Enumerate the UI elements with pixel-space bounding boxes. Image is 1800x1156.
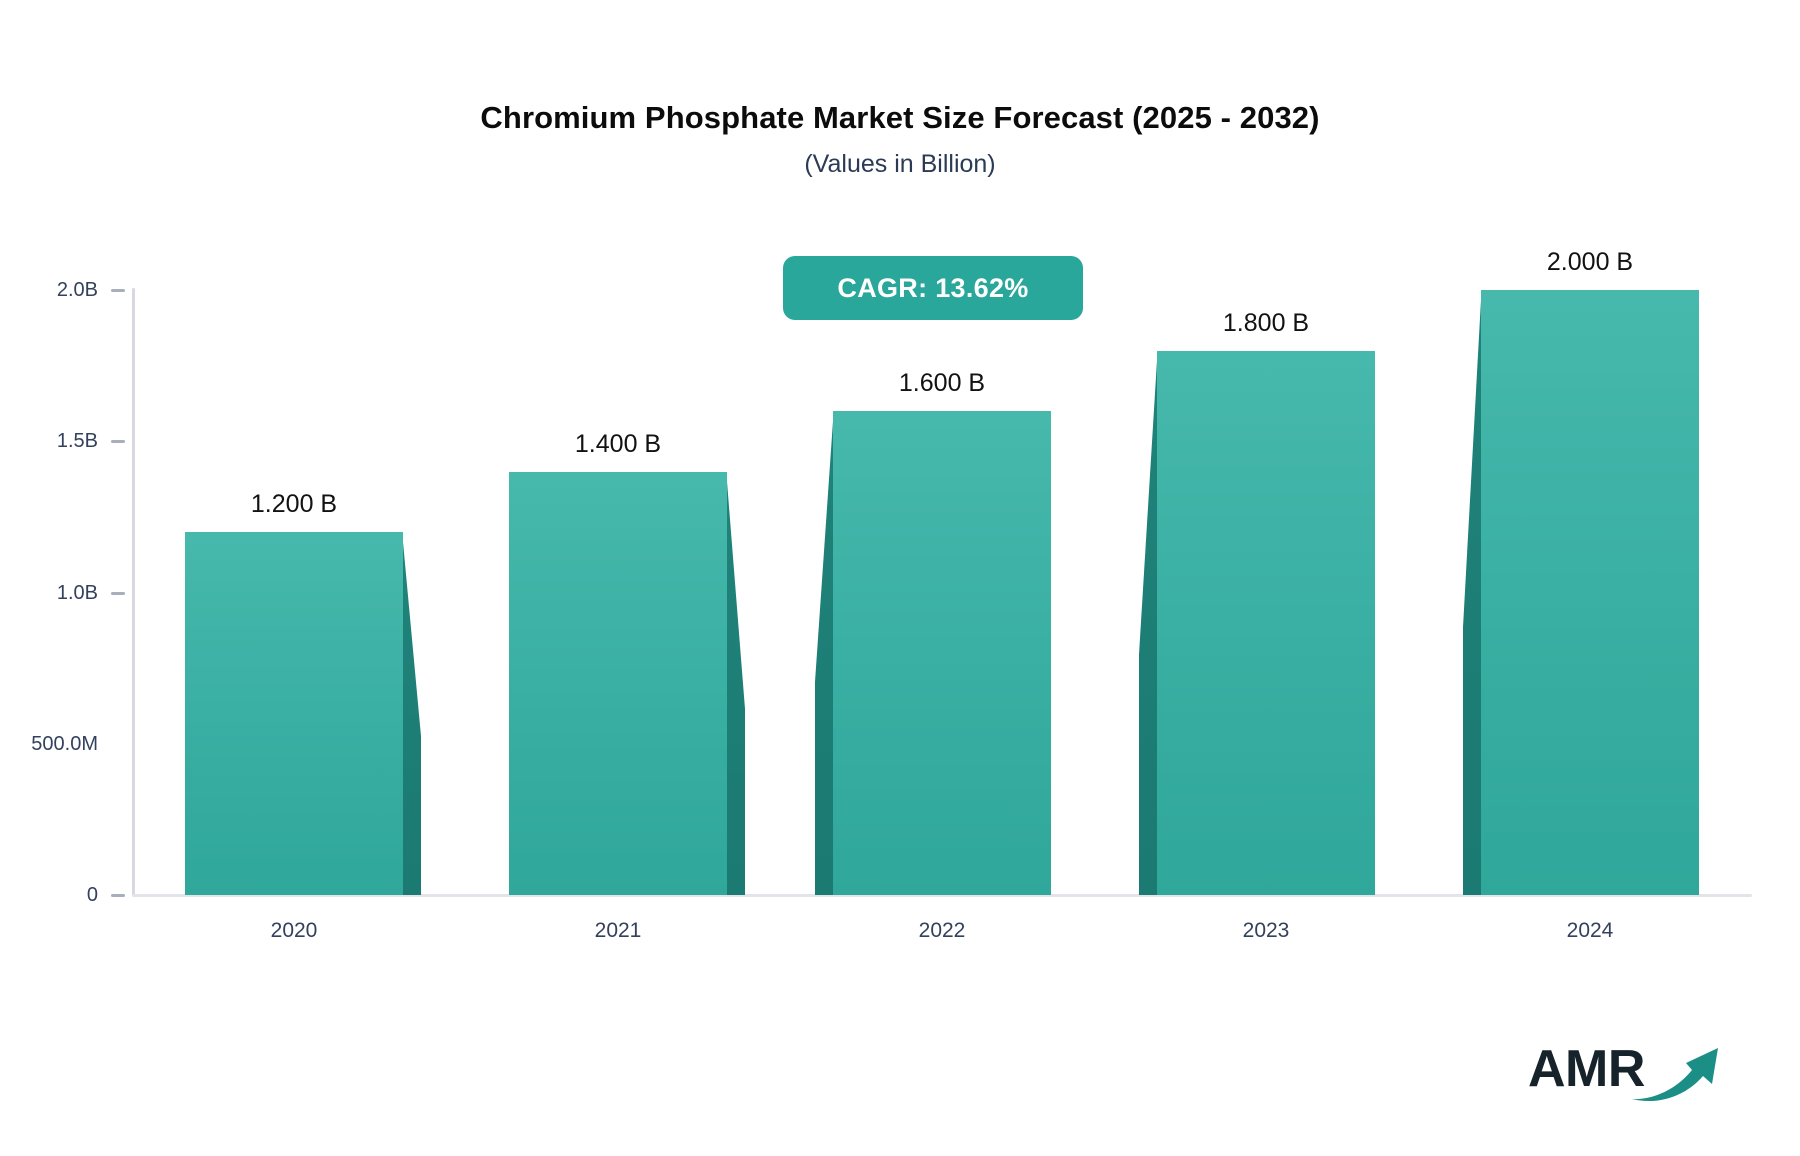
y-axis-line (132, 288, 135, 896)
amr-logo: AMR (1528, 1038, 1718, 1108)
y-axis-tick-label: 500.0M (0, 732, 132, 756)
bar-2022[interactable]: 1.600 B2022 (833, 411, 1051, 895)
y-axis-tick-mark (111, 440, 125, 443)
amr-wordmark: AMR (1528, 1040, 1645, 1098)
bar-value-label: 1.800 B (1157, 309, 1375, 338)
x-axis-tick-label-2021: 2021 (509, 919, 727, 943)
bar-front-face (509, 472, 727, 896)
trend-arrow-up-icon (1630, 1042, 1722, 1104)
bar-2020[interactable]: 1.200 B2020 (185, 532, 403, 895)
plot-area: 2.0B1.5B1.0B500.0M0 1.200 B20201.400 B20… (0, 0, 1800, 1156)
x-axis-tick-label-2024: 2024 (1481, 919, 1699, 943)
x-axis-tick-label-2022: 2022 (833, 919, 1051, 943)
bar-value-label: 1.400 B (509, 430, 727, 459)
bar-side-face (403, 542, 421, 895)
bar-front-face (1157, 351, 1375, 896)
y-axis-tick-mark (111, 894, 125, 897)
bar-front-face (1481, 290, 1699, 895)
bar-value-label: 1.600 B (833, 369, 1051, 398)
bar-side-face (1463, 300, 1481, 895)
bar-2023[interactable]: 1.800 B2023 (1157, 351, 1375, 896)
y-axis-tick-mark (111, 289, 125, 292)
bar-2021[interactable]: 1.400 B2021 (509, 472, 727, 896)
x-axis-tick-label-2023: 2023 (1157, 919, 1375, 943)
bar-front-face (185, 532, 403, 895)
bar-front-face (833, 411, 1051, 895)
bar-value-label: 1.200 B (185, 490, 403, 519)
bar-2024[interactable]: 2.000 B2024 (1481, 290, 1699, 895)
y-axis-tick-mark (111, 592, 125, 595)
bar-side-face (727, 482, 745, 896)
bar-side-face (1139, 361, 1157, 896)
bar-side-face (815, 421, 833, 895)
x-axis-tick-label-2020: 2020 (185, 919, 403, 943)
chart-card: Chromium Phosphate Market Size Forecast … (0, 0, 1800, 1156)
bar-value-label: 2.000 B (1481, 248, 1699, 277)
